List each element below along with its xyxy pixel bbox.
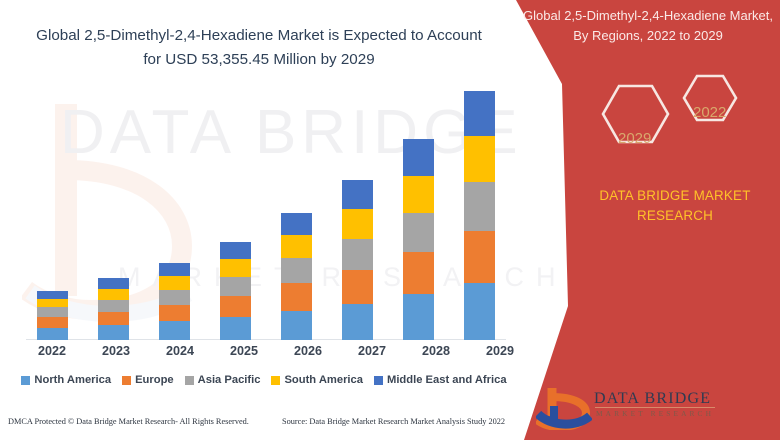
- hexagon-badges: 2029 2022: [586, 74, 776, 178]
- brand-name: DATA BRIDGE MARKET RESEARCH: [570, 186, 780, 226]
- hexagon-label-2029: 2029: [618, 130, 651, 147]
- data-bridge-logo: DATA BRIDGE MARKET RESEARCH: [536, 386, 756, 432]
- right-panel-heading: Global 2,5-Dimethyl-2,4-Hexadiene Market…: [520, 6, 776, 46]
- right-panel-content: Global 2,5-Dimethyl-2,4-Hexadiene Market…: [0, 0, 780, 440]
- logo-wordmark: DATA BRIDGE: [594, 390, 711, 408]
- data-bridge-b-logo-icon: [536, 386, 592, 430]
- infographic-canvas: DATA BRIDGE MARKET RESEARCH Global 2,5-D…: [0, 0, 780, 440]
- logo-subtitle: MARKET RESEARCH: [596, 409, 714, 418]
- hexagon-label-2022: 2022: [693, 104, 726, 121]
